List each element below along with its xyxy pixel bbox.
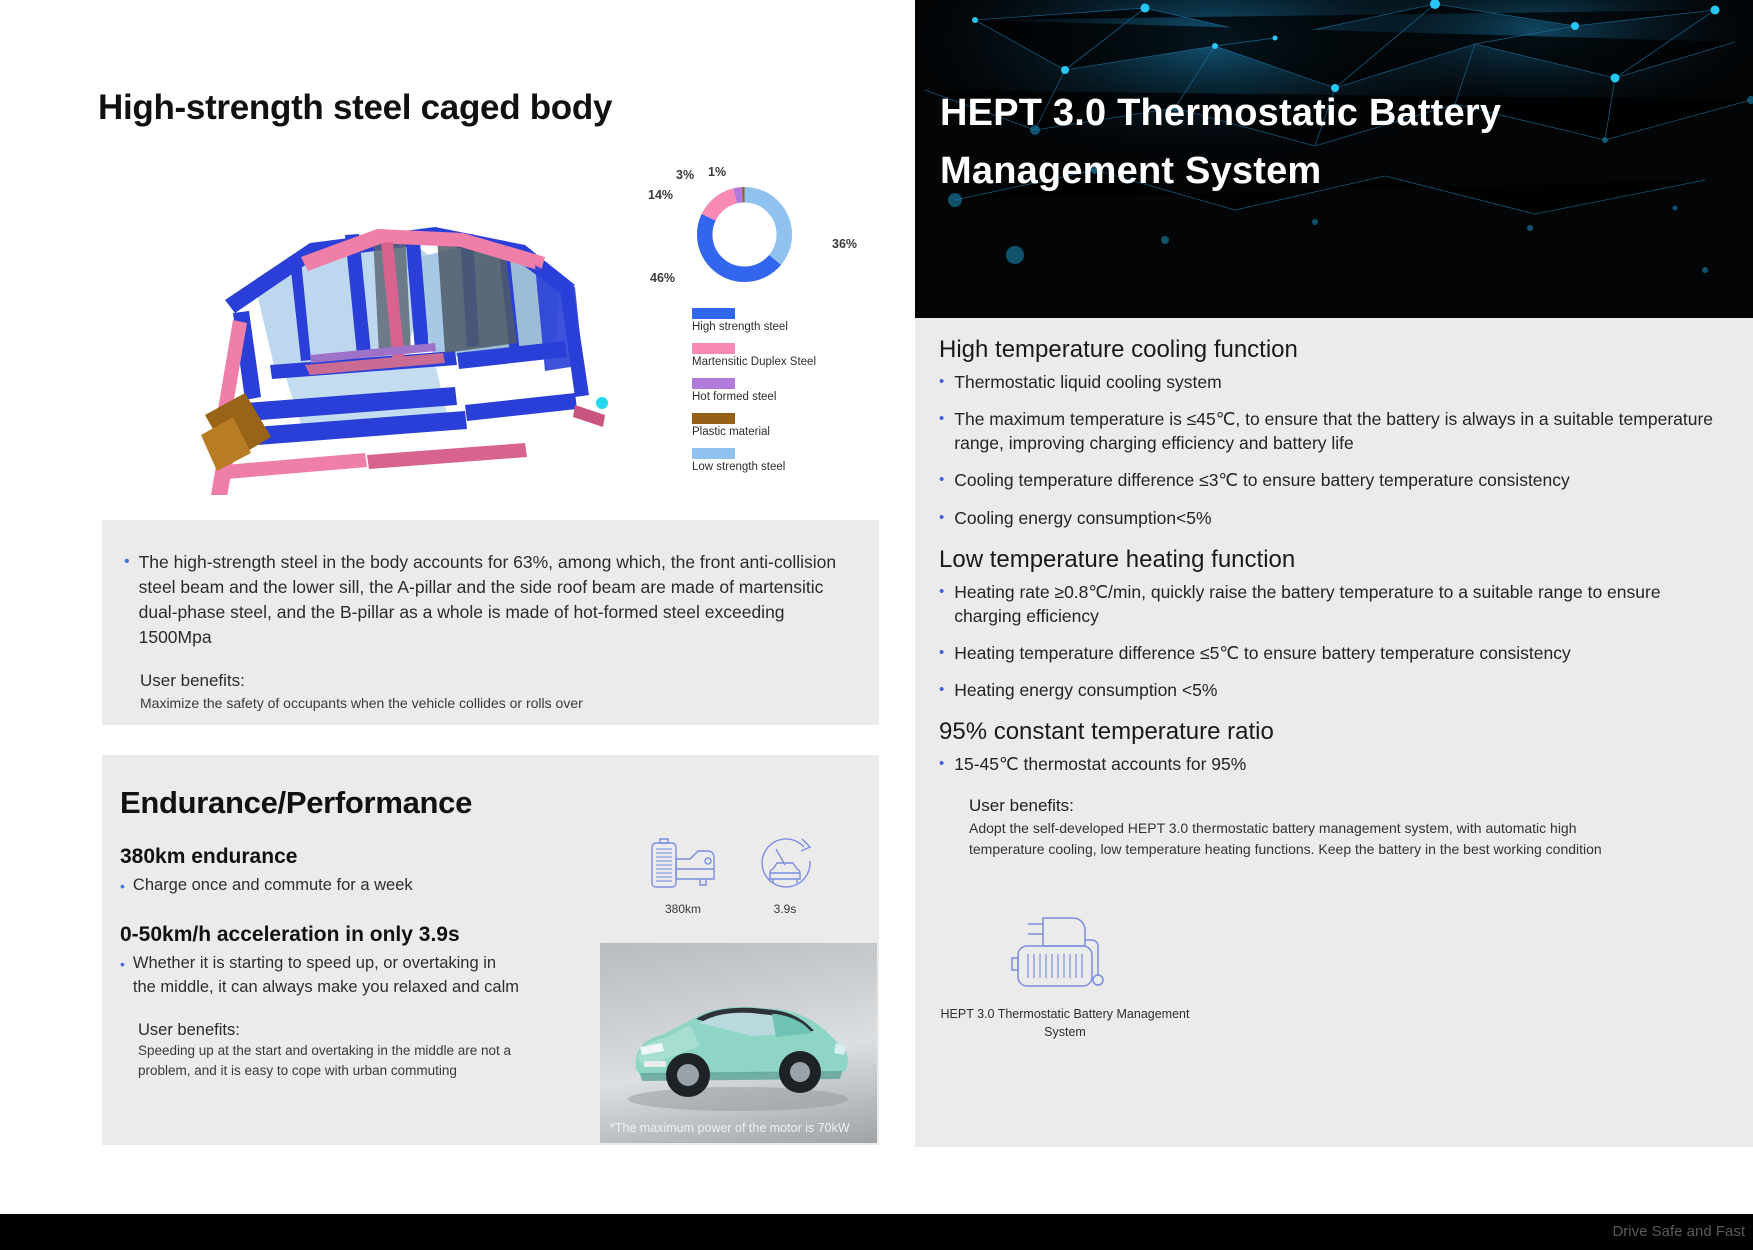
hept-icon-group: HEPT 3.0 Thermostatic Battery Management… <box>940 910 1190 1041</box>
user-benefits-title: User benefits: <box>140 671 879 691</box>
constant-ratio-bullet-1: 15-45℃ thermostat accounts for 95% <box>954 752 1246 776</box>
bullet-icon: • <box>939 752 944 776</box>
list-item: • Cooling energy consumption<5% <box>939 506 1729 530</box>
chart-legend: High strength steel Martensitic Duplex S… <box>692 308 816 483</box>
legend-item: Hot formed steel <box>692 378 816 403</box>
acceleration-icon-caption: 3.9s <box>754 902 816 916</box>
vehicle-photo-caption: *The maximum power of the motor is 70kW <box>600 1121 877 1135</box>
vehicle-photo: *The maximum power of the motor is 70kW <box>600 943 877 1143</box>
list-item: • Heating rate ≥0.8℃/min, quickly raise … <box>939 580 1729 628</box>
bullet-icon: • <box>939 468 944 492</box>
thermostatic-battery-icon <box>1006 983 1124 1000</box>
bullet-icon: • <box>939 370 944 394</box>
legend-swatch-plastic-material <box>692 413 735 424</box>
acceleration-icon-group: 3.9s <box>754 835 816 916</box>
chart-label-46: 46% <box>650 271 675 285</box>
list-item: • Charge once and commute for a week <box>120 874 520 899</box>
cooling-bullet-1: Thermostatic liquid cooling system <box>954 370 1221 394</box>
list-item: • 15-45℃ thermostat accounts for 95% <box>939 752 1729 776</box>
hept-icon-caption: HEPT 3.0 Thermostatic Battery Management… <box>940 1005 1190 1041</box>
battery-car-icon <box>648 880 718 897</box>
cooling-bullet-2: The maximum temperature is ≤45℃, to ensu… <box>954 407 1729 455</box>
heating-bullet-3: Heating energy consumption <5% <box>954 678 1217 702</box>
bullet-icon: • <box>939 506 944 530</box>
section-heading-heating: Low temperature heating function <box>939 546 1729 574</box>
legend-swatch-low-strength-steel <box>692 448 735 459</box>
page-title: High-strength steel caged body <box>98 88 612 128</box>
bullet-icon: • <box>939 678 944 702</box>
list-item: • Whether it is starting to speed up, or… <box>120 952 520 999</box>
range-icon-caption: 380km <box>648 902 718 916</box>
list-item: • The maximum temperature is ≤45℃, to en… <box>939 407 1729 455</box>
legend-item: Plastic material <box>692 413 816 438</box>
cooling-bullet-3: Cooling temperature difference ≤3℃ to en… <box>954 468 1570 492</box>
user-benefits-body: Speeding up at the start and overtaking … <box>138 1041 538 1082</box>
donut-chart: 36% 46% 14% 3% 1% <box>692 182 797 287</box>
legend-label-high-strength-steel: High strength steel <box>692 321 816 333</box>
list-item: • Thermostatic liquid cooling system <box>939 370 1729 394</box>
list-item: • Heating energy consumption <5% <box>939 678 1729 702</box>
legend-item: Low strength steel <box>692 448 816 473</box>
endurance-icons: 380km 3.9s <box>648 835 838 916</box>
bullet-icon: • <box>939 641 944 665</box>
endurance-bullet-2: Whether it is starting to speed up, or o… <box>133 952 520 999</box>
bullet-icon: • <box>120 952 125 999</box>
steel-body-info-box: • The high-strength steel in the body ac… <box>102 520 879 725</box>
endurance-title: Endurance/Performance <box>120 785 879 821</box>
user-benefits-body: Maximize the safety of occupants when th… <box>140 693 879 713</box>
legend-label-hot-formed-steel: Hot formed steel <box>692 391 816 403</box>
bullet-icon: • <box>124 550 130 649</box>
chart-label-1: 1% <box>708 165 726 179</box>
hero-banner: HEPT 3.0 Thermostatic Battery Management… <box>915 0 1753 318</box>
list-item: • Heating temperature difference ≤5℃ to … <box>939 641 1729 665</box>
list-item: • The high-strength steel in the body ac… <box>124 550 853 649</box>
legend-item: Martensitic Duplex Steel <box>692 343 816 368</box>
range-icon-group: 380km <box>648 835 718 916</box>
steel-body-bullet-text: The high-strength steel in the body acco… <box>139 550 853 649</box>
left-column: High-strength steel caged body <box>0 0 915 1185</box>
slide-page: High-strength steel caged body <box>0 0 1753 1250</box>
user-benefits-title: User benefits: <box>969 796 1729 816</box>
material-composition-chart: 36% 46% 14% 3% 1% High strength steel Ma… <box>672 160 847 470</box>
legend-label-low-strength-steel: Low strength steel <box>692 461 816 473</box>
legend-label-plastic-material: Plastic material <box>692 426 816 438</box>
heating-bullet-2: Heating temperature difference ≤5℃ to en… <box>954 641 1570 665</box>
chart-label-36: 36% <box>832 237 857 251</box>
cooling-bullet-4: Cooling energy consumption<5% <box>954 506 1211 530</box>
list-item: • Cooling temperature difference ≤3℃ to … <box>939 468 1729 492</box>
car-body-frame-illustration <box>105 165 640 495</box>
legend-label-martensitic-duplex-steel: Martensitic Duplex Steel <box>692 356 816 368</box>
bullet-icon: • <box>939 580 944 628</box>
legend-swatch-hot-formed-steel <box>692 378 735 389</box>
legend-item: High strength steel <box>692 308 816 333</box>
endurance-bullet-1: Charge once and commute for a week <box>133 874 413 899</box>
legend-swatch-high-strength-steel <box>692 308 735 319</box>
right-content: High temperature cooling function • Ther… <box>915 318 1753 860</box>
bullet-icon: • <box>939 407 944 455</box>
bullet-icon: • <box>120 874 125 899</box>
user-benefits-body: Adopt the self-developed HEPT 3.0 thermo… <box>969 818 1649 860</box>
hero-title: HEPT 3.0 Thermostatic Battery Management… <box>940 85 1700 201</box>
section-heading-constant-ratio: 95% constant temperature ratio <box>939 718 1729 746</box>
chart-label-3: 3% <box>676 168 694 182</box>
footer-tagline: Drive Safe and Fast <box>1612 1223 1745 1240</box>
legend-swatch-martensitic-duplex-steel <box>692 343 735 354</box>
footer-bar: Drive Safe and Fast <box>0 1214 1753 1250</box>
stopwatch-car-icon <box>754 880 816 897</box>
chart-label-14: 14% <box>648 188 673 202</box>
section-heading-cooling: High temperature cooling function <box>939 336 1729 364</box>
heating-bullet-1: Heating rate ≥0.8℃/min, quickly raise th… <box>954 580 1729 628</box>
